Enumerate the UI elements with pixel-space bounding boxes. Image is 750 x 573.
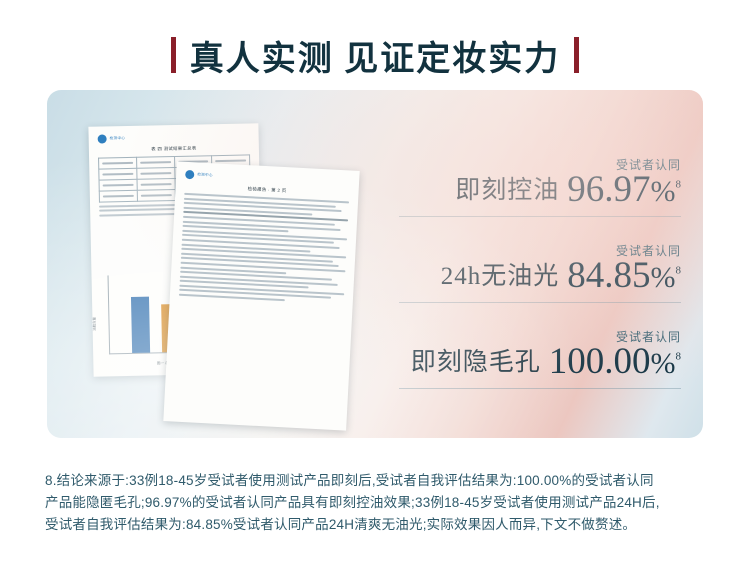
result-percent-sign: % bbox=[651, 261, 676, 294]
result-value-group: 受试者认同 84.85%8 bbox=[567, 242, 681, 296]
page-title: 真人实测 见证定妆实力 bbox=[0, 26, 750, 84]
hero-banner: 检测中心 表 四 测试结果汇总表 bbox=[47, 90, 703, 438]
result-footnote-marker: 8 bbox=[676, 351, 682, 363]
report-front-content: 检测中心 检验报告 · 第 2 页 bbox=[163, 161, 359, 430]
result-label: 即刻隐毛孔 bbox=[411, 342, 541, 378]
result-footnote-marker: 8 bbox=[676, 179, 682, 191]
footnote-line-2: 产品能隐匿毛孔;96.97%的受试者认同产品具有即刻控油效果;33例18-45岁… bbox=[45, 492, 717, 514]
table-cell bbox=[137, 179, 175, 191]
result-value: 84.85%8 bbox=[567, 257, 681, 296]
result-label: 即刻控油 bbox=[455, 170, 559, 206]
title-accent-bar-left bbox=[171, 37, 176, 73]
result-item-pore-blur: 即刻隐毛孔 受试者认同 100.00%8 bbox=[399, 302, 681, 388]
report-front-logo-label: 检测中心 bbox=[197, 172, 213, 178]
chart-bar bbox=[131, 297, 150, 353]
result-label: 24h无油光 bbox=[441, 256, 560, 292]
chart-y-axis-label: 油脂含量 bbox=[91, 317, 96, 331]
title-text: 真人实测 见证定妆实力 bbox=[190, 31, 561, 80]
result-item-oil-control: 即刻控油 受试者认同 96.97%8 bbox=[399, 130, 681, 216]
result-value-group: 受试者认同 100.00%8 bbox=[549, 328, 681, 382]
table-cell bbox=[136, 157, 174, 169]
results-bottom-divider bbox=[399, 388, 681, 389]
table-cell bbox=[99, 168, 137, 180]
result-value-group: 受试者认同 96.97%8 bbox=[567, 156, 681, 210]
report-back-logo: 检测中心 bbox=[98, 131, 250, 143]
promo-page: 真人实测 见证定妆实力 检测中心 表 四 测试结果汇总表 bbox=[0, 0, 750, 573]
report-logo-icon bbox=[98, 134, 107, 143]
result-number: 100.00 bbox=[549, 341, 651, 382]
report-back-logo-label: 检测中心 bbox=[110, 136, 126, 141]
result-number: 84.85 bbox=[567, 255, 650, 296]
table-cell bbox=[137, 190, 175, 202]
result-percent-sign: % bbox=[651, 175, 676, 208]
report-logo-icon bbox=[185, 170, 194, 179]
table-cell bbox=[99, 179, 137, 191]
table-cell bbox=[137, 168, 175, 180]
result-number: 96.97 bbox=[567, 169, 650, 210]
result-item-24h-no-shine: 24h无油光 受试者认同 84.85%8 bbox=[399, 216, 681, 302]
report-back-title: 表 四 测试结果汇总表 bbox=[98, 144, 250, 153]
result-value: 96.97%8 bbox=[567, 171, 681, 210]
title-accent-bar-right bbox=[574, 37, 579, 73]
table-cell bbox=[99, 190, 137, 202]
result-footnote-marker: 8 bbox=[676, 265, 682, 277]
footnote: 8.结论来源于:33例18-45岁受试者使用测试产品即刻后,受试者自我评估结果为… bbox=[45, 470, 717, 536]
footnote-line-1: 8.结论来源于:33例18-45岁受试者使用测试产品即刻后,受试者自我评估结果为… bbox=[45, 470, 717, 492]
footnote-line-3: 受试者自我评估结果为:84.85%受试者认同产品24H清爽无油光;实际效果因人而… bbox=[45, 514, 717, 536]
table-cell bbox=[99, 157, 137, 169]
results-list: 即刻控油 受试者认同 96.97%8 24h无油光 受试者认同 84.85%8 … bbox=[399, 130, 681, 389]
result-value: 100.00%8 bbox=[549, 343, 681, 382]
result-percent-sign: % bbox=[651, 347, 676, 380]
report-document-front: 检测中心 检验报告 · 第 2 页 bbox=[163, 161, 359, 430]
